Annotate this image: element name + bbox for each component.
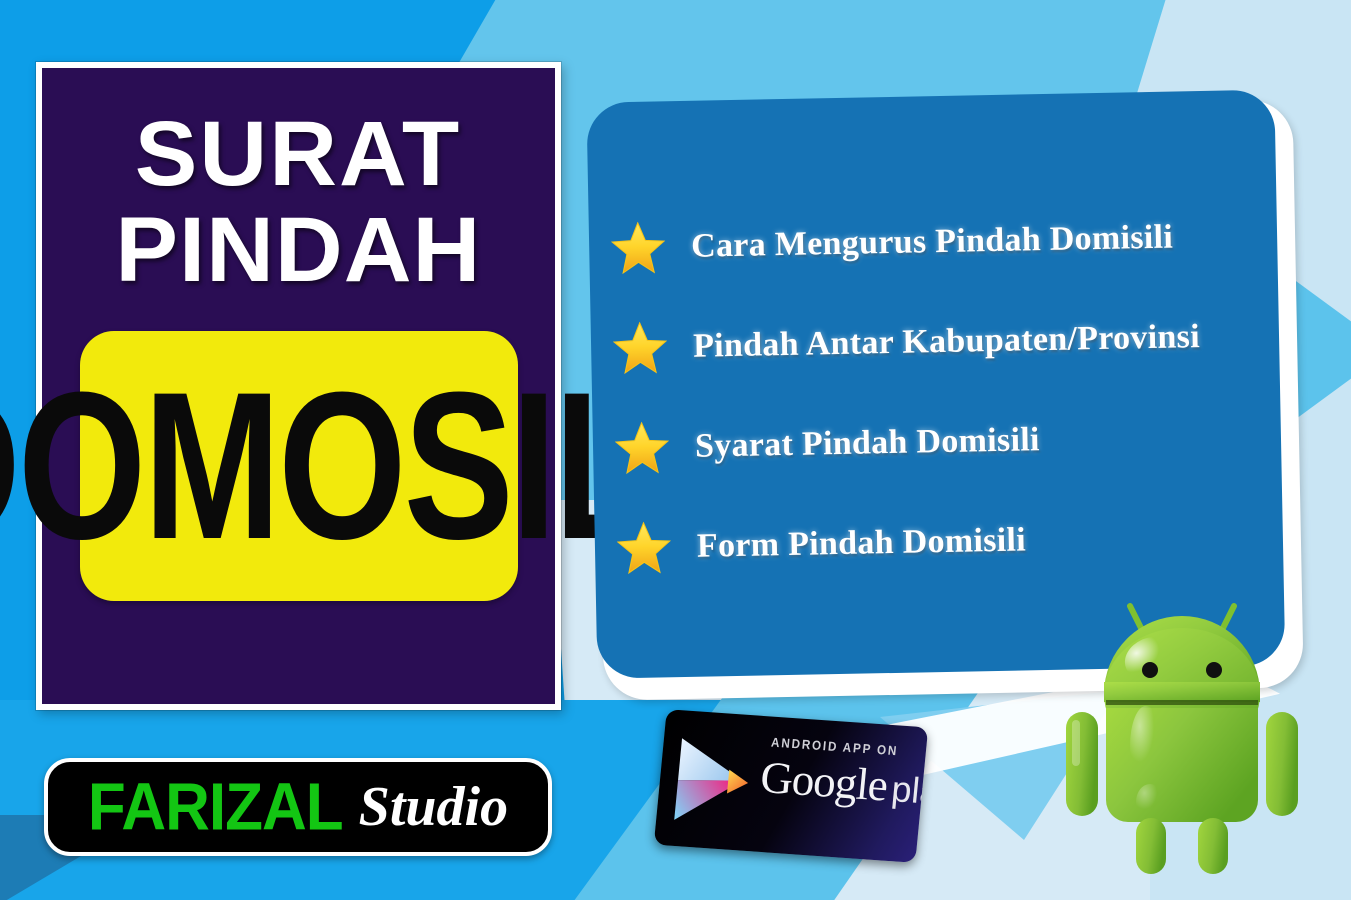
star-icon <box>616 521 671 574</box>
google-play-text: ANDROID APP ON Googleplay <box>758 734 916 813</box>
feature-card-body: Cara Mengurus Pindah Domisili Pindah Ant… <box>586 90 1285 679</box>
poster-title-line-1: SURAT <box>135 110 461 198</box>
poster-title-line-2: PINDAH <box>116 206 482 294</box>
feature-label: Pindah Antar Kabupaten/Provinsi <box>693 318 1200 366</box>
google-wordmark: Google <box>758 752 889 811</box>
feature-list: Cara Mengurus Pindah Domisili Pindah Ant… <box>588 186 1284 599</box>
app-poster-panel: SURAT PINDAH DOMOSILI <box>36 62 561 710</box>
feature-label: Form Pindah Domisili <box>697 521 1027 565</box>
app-banner: SURAT PINDAH DOMOSILI Cara Mengurus Pind… <box>0 0 1351 900</box>
feature-label: Cara Mengurus Pindah Domisili <box>691 219 1174 266</box>
studio-suffix: Studio <box>359 775 508 839</box>
star-icon <box>611 221 666 274</box>
google-play-wordmark: Googleplay <box>758 751 928 817</box>
google-play-badge[interactable]: ANDROID APP ON Googleplay <box>654 709 928 863</box>
list-item[interactable]: Pindah Antar Kabupaten/Provinsi <box>604 286 1258 398</box>
feature-label: Syarat Pindah Domisili <box>695 421 1040 466</box>
play-triangle-icon <box>672 736 754 827</box>
poster-badge-text: DOMOSILI <box>0 361 695 571</box>
poster-yellow-badge: DOMOSILI <box>80 331 518 601</box>
star-icon <box>615 421 670 474</box>
google-play-badge-body[interactable]: ANDROID APP ON Googleplay <box>654 709 928 863</box>
list-item[interactable]: Cara Mengurus Pindah Domisili <box>602 186 1256 298</box>
list-item[interactable]: Form Pindah Domisili <box>608 486 1262 598</box>
android-robot-icon <box>1062 596 1302 886</box>
studio-name: FARIZAL <box>88 769 343 846</box>
studio-badge: FARIZAL Studio <box>44 758 552 856</box>
star-icon <box>613 321 668 374</box>
list-item[interactable]: Syarat Pindah Domisili <box>606 386 1260 498</box>
